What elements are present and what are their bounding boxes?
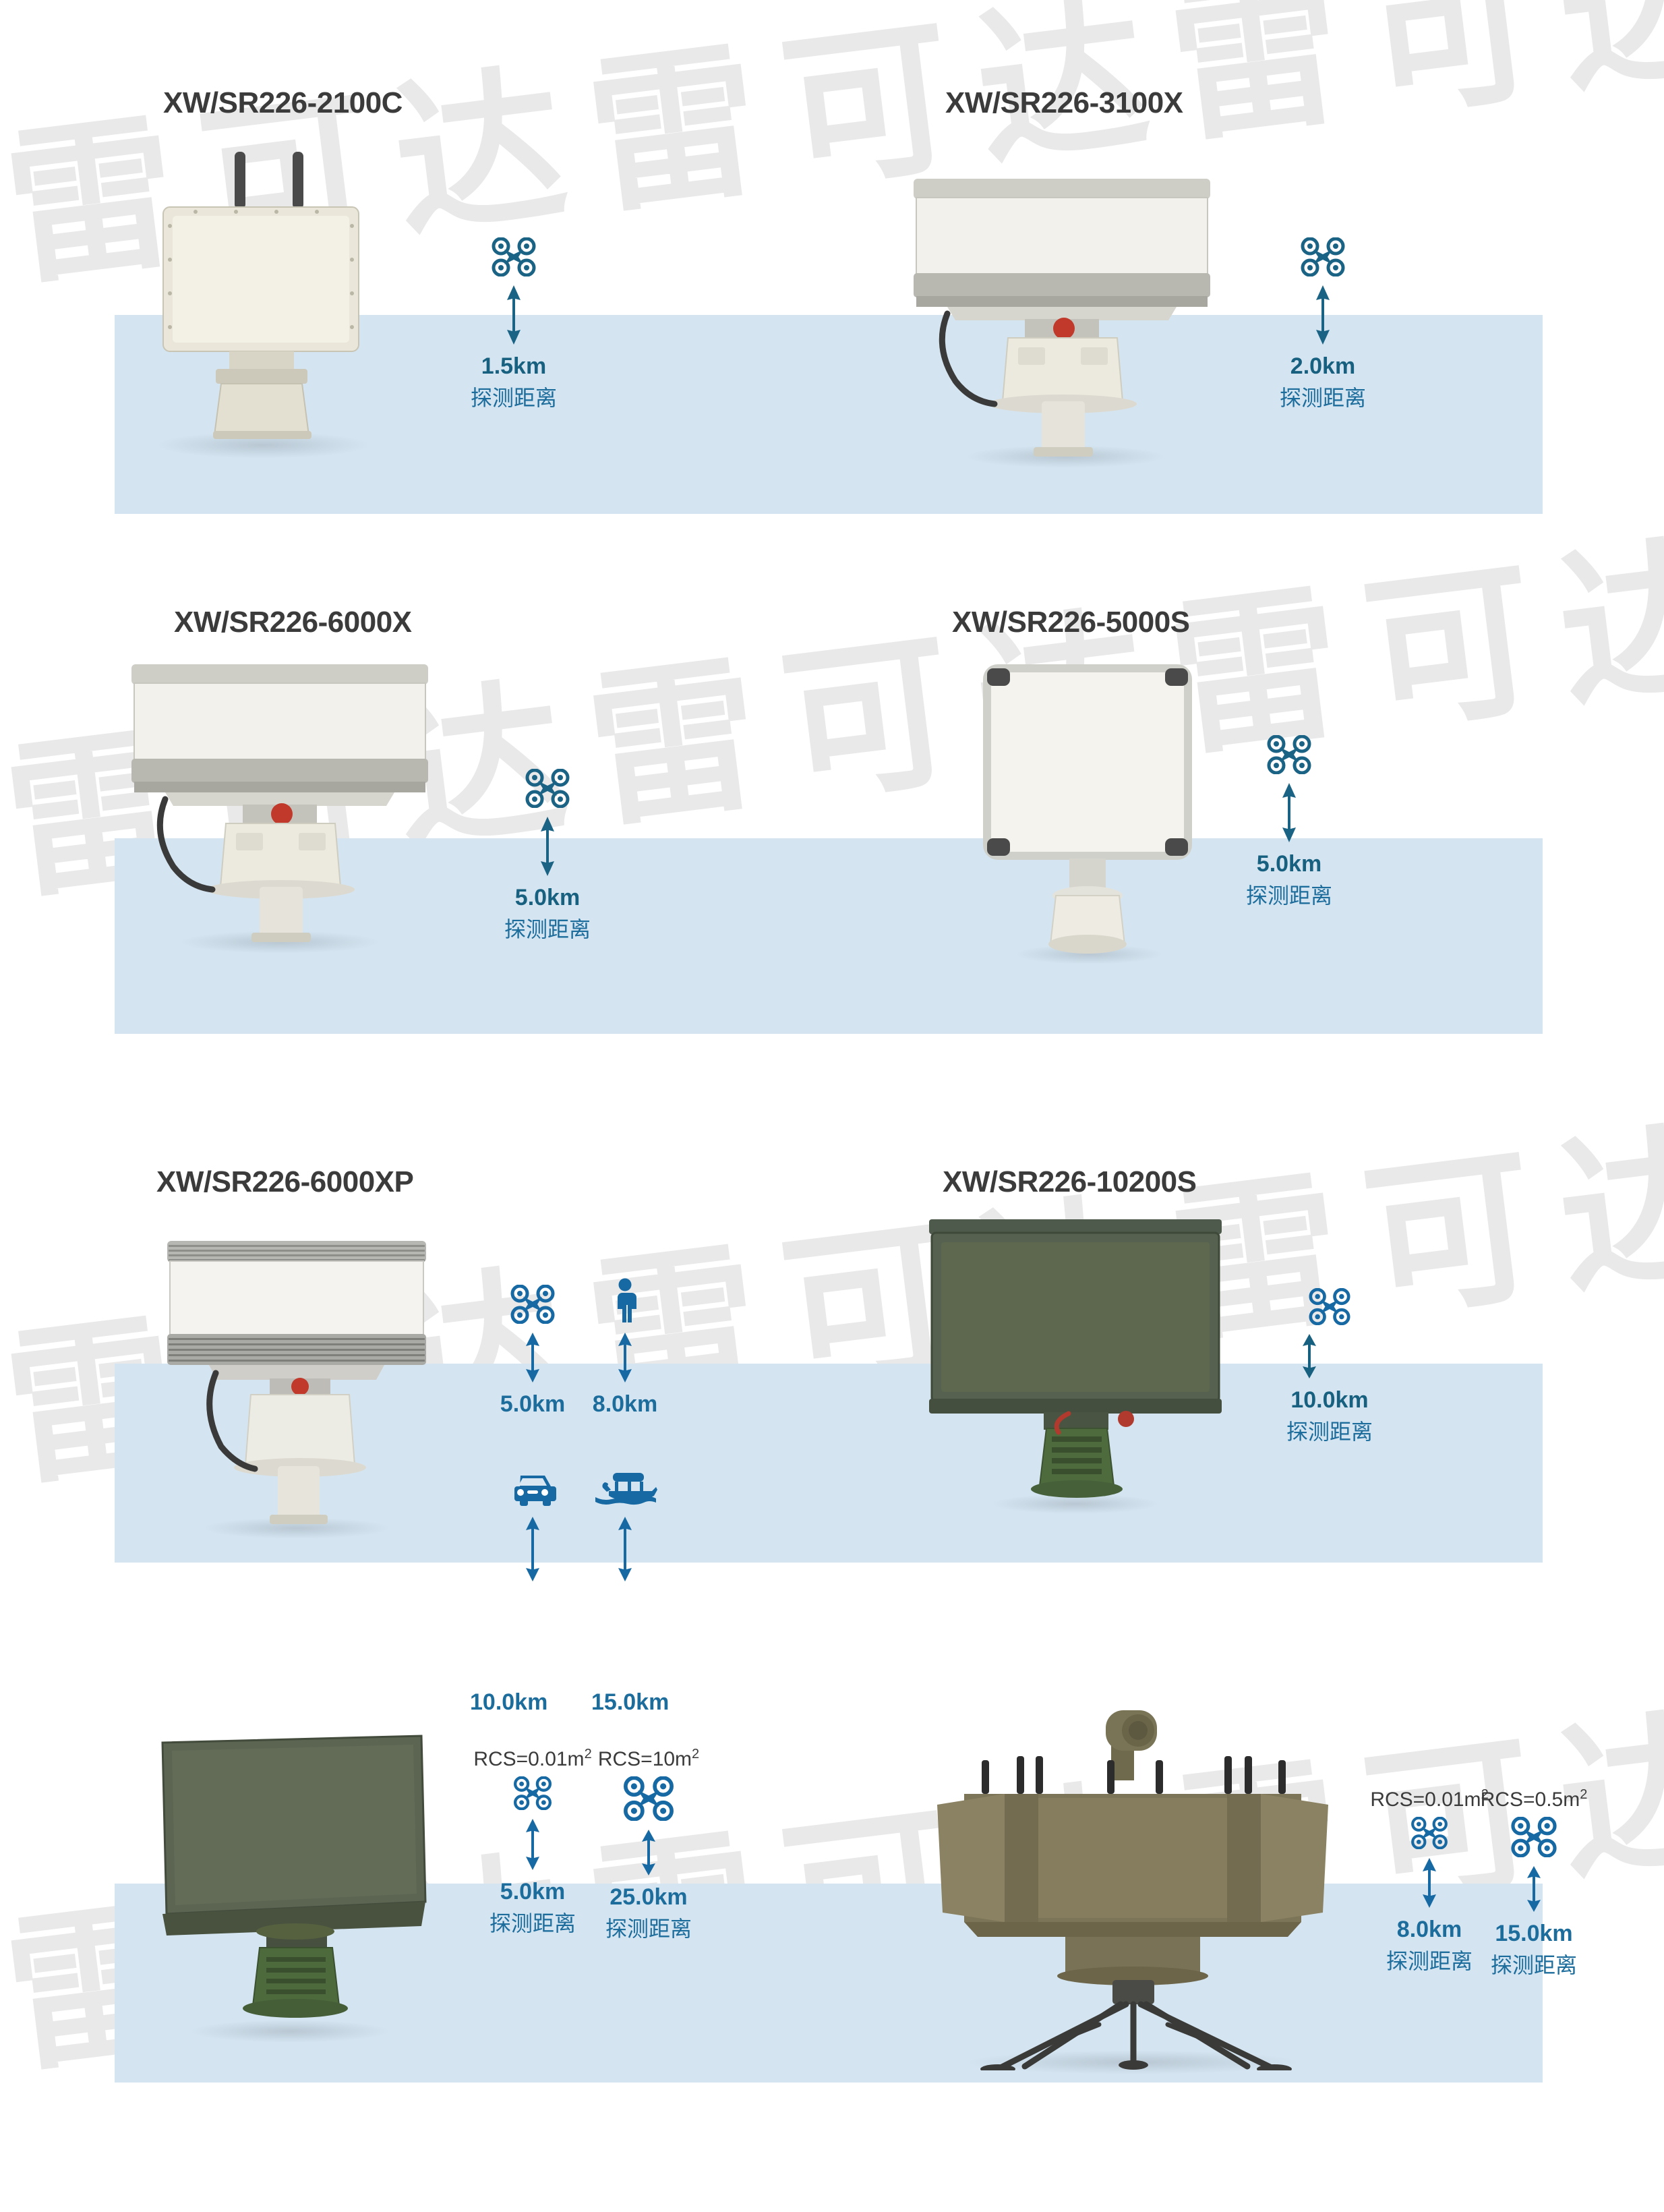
rcs-text: RCS=0.01m (1370, 1788, 1481, 1811)
measurement-value: 5.0km (480, 885, 615, 911)
measurement-6000xp-person: 8.0km (558, 1278, 692, 1418)
rcs-exponent: 2 (692, 1747, 699, 1762)
measurement-3100x-drone: 2.0km 探测距离 (1255, 237, 1390, 412)
radar-image-5000s (976, 661, 1199, 964)
rcs-text: RCS=0.5m (1481, 1788, 1580, 1811)
rcs-text: RCS=10m (598, 1748, 692, 1770)
double-arrow-vertical-icon (1466, 1865, 1601, 1917)
double-arrow-vertical-icon (1255, 284, 1390, 349)
radar-image-10200s (924, 1219, 1227, 1516)
measurement-value: 8.0km (558, 1391, 692, 1418)
measurement-6000x-drone: 5.0km 探测距离 (480, 769, 615, 943)
measurement-10200s-drone: 10.0km 探测距离 (1262, 1288, 1397, 1446)
product-title-5000s: XW/SR226-5000S (952, 606, 1190, 639)
product-title-6000x: XW/SR226-6000X (174, 606, 412, 639)
measurement-2100c-drone: 1.5km 探测距离 (446, 237, 581, 412)
drone-icon (1222, 735, 1357, 778)
top-range-1: 10.0km (470, 1689, 547, 1716)
radar-image-3100x (907, 179, 1217, 459)
measurement-br-drone-large: RCS=0.5m2 15.0km 探测距离 (1466, 1787, 1601, 1979)
measurement-value: 5.0km (1222, 851, 1357, 877)
double-arrow-vertical-icon (558, 1515, 692, 1586)
rcs-label: RCS=0.01m2 (465, 1747, 600, 1771)
radar-image-2100c (148, 152, 371, 442)
drone-icon (1255, 237, 1390, 280)
rcs-exponent: 2 (1580, 1787, 1587, 1802)
drone-icon (581, 1776, 716, 1824)
rcs-text: RCS=0.01m (473, 1748, 584, 1770)
rcs-label: RCS=0.5m2 (1466, 1787, 1601, 1811)
measurement-value: 1.5km (446, 353, 581, 380)
drone-icon (465, 1776, 600, 1813)
measurement-label: 探测距离 (446, 381, 581, 412)
measurement-label: 探测距离 (581, 1912, 716, 1943)
measurement-label: 探测距离 (1222, 879, 1357, 910)
double-arrow-vertical-icon (558, 1331, 692, 1387)
product-title-3100x: XW/SR226-3100X (945, 86, 1183, 120)
radar-image-6000xp (162, 1241, 432, 1531)
radar-image-bottom-right (897, 1672, 1369, 2070)
measurement-5000s-drone: 5.0km 探测距离 (1222, 735, 1357, 910)
product-title-10200s: XW/SR226-10200S (943, 1165, 1197, 1199)
person-icon (558, 1278, 692, 1327)
measurement-value: 5.0km (465, 1879, 600, 1905)
measurement-label: 探测距离 (465, 1907, 600, 1938)
measurement-value: 10.0km (1262, 1387, 1397, 1414)
measurement-label: 探测距离 (480, 912, 615, 943)
watermark-text: 雷可达 (1156, 1061, 1664, 1375)
double-arrow-vertical-icon (1222, 782, 1357, 847)
measurement-value: 15.0km (1466, 1921, 1601, 1947)
drone-icon (1262, 1288, 1397, 1329)
boat-icon (558, 1470, 692, 1511)
double-arrow-vertical-icon (446, 284, 581, 349)
radar-image-6000x (125, 664, 435, 944)
measurement-value: 25.0km (581, 1884, 716, 1911)
drone-icon (446, 237, 581, 280)
rcs-label: RCS=10m2 (581, 1747, 716, 1771)
drone-icon (480, 769, 615, 811)
measurement-label: 探测距离 (1255, 381, 1390, 412)
product-title-2100c: XW/SR226-2100C (163, 86, 403, 120)
measurement-label: 探测距离 (1466, 1948, 1601, 1979)
double-arrow-vertical-icon (480, 815, 615, 881)
product-title-6000xp: XW/SR226-6000XP (156, 1165, 413, 1199)
radar-image-bottom-left (152, 1733, 435, 2043)
double-arrow-vertical-icon (465, 1817, 600, 1875)
measurement-6000xp-boat (558, 1470, 692, 1590)
top-range-2: 15.0km (591, 1689, 669, 1716)
drone-icon (1466, 1817, 1601, 1861)
measurement-value: 2.0km (1255, 353, 1390, 380)
watermark-text: 雷可达 (1156, 0, 1664, 175)
double-arrow-vertical-icon (581, 1828, 716, 1880)
measurement-label: 探测距离 (1262, 1415, 1397, 1446)
measurement-bl-drone-large: RCS=10m2 25.0km 探测距离 (581, 1747, 716, 1943)
double-arrow-vertical-icon (1222, 1333, 1397, 1383)
measurement-bl-drone-small: RCS=0.01m2 5.0km 探测距离 (465, 1747, 600, 1938)
